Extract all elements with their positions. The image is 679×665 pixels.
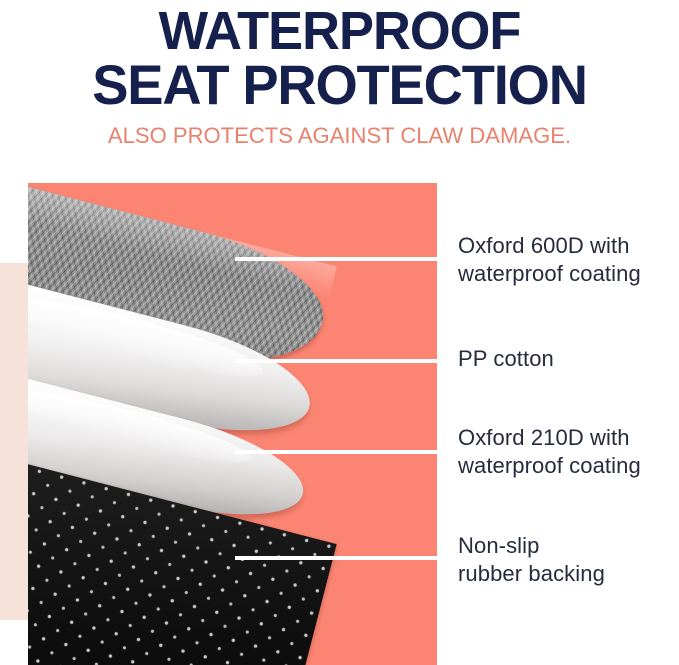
callout-label-pp-cotton: PP cotton bbox=[458, 345, 679, 373]
left-accent-strip bbox=[0, 263, 28, 620]
product-cutaway-panel bbox=[28, 183, 437, 665]
leader-line-oxford-210d bbox=[235, 450, 437, 454]
leader-line-pp-cotton bbox=[235, 359, 437, 363]
header-block: WATERPROOF SEAT PROTECTION ALSO PROTECTS… bbox=[0, 0, 679, 160]
leader-line-oxford-600d bbox=[235, 257, 437, 261]
material-layer-stack bbox=[28, 183, 437, 665]
callout-label-rubber-backing: Non-slip rubber backing bbox=[458, 532, 679, 588]
leader-line-rubber-backing bbox=[235, 556, 437, 560]
page-title-line-1: WATERPROOF bbox=[10, 4, 669, 58]
callout-label-oxford-210d: Oxford 210D with waterproof coating bbox=[458, 424, 679, 480]
page-subtitle: ALSO PROTECTS AGAINST CLAW DAMAGE. bbox=[7, 123, 672, 149]
callout-label-oxford-600d: Oxford 600D with waterproof coating bbox=[458, 232, 679, 288]
page-title-line-2: SEAT PROTECTION bbox=[10, 58, 669, 112]
